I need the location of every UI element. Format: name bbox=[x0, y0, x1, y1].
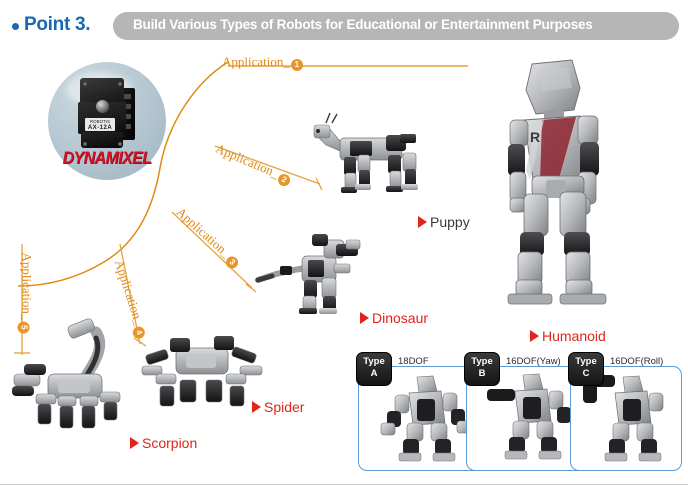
label-dinosaur-text: Dinosaur bbox=[372, 310, 428, 326]
label-spider-text: Spider bbox=[264, 399, 304, 415]
type-b-badge-letter: B bbox=[479, 368, 486, 379]
type-c-badge-top: Type bbox=[575, 356, 596, 367]
application-label-3: Application_3 bbox=[172, 204, 243, 271]
servo-bottom-case bbox=[81, 132, 123, 148]
dynamixel-logo-disc: ROBOTIS AX-12A DYNAMIXEL bbox=[48, 62, 166, 180]
red-triangle-icon bbox=[360, 312, 369, 324]
application-label-2: Application_2 bbox=[213, 141, 294, 188]
servo-screw bbox=[83, 142, 87, 146]
servo-part-label: ROBOTIS AX-12A bbox=[85, 118, 115, 131]
type-b-badge: Type B bbox=[464, 352, 500, 386]
blue-dot-icon bbox=[12, 23, 19, 30]
label-puppy-text: Puppy bbox=[430, 214, 470, 230]
red-triangle-icon bbox=[252, 401, 261, 413]
label-dinosaur: Dinosaur bbox=[360, 310, 428, 326]
type-a-dof-label: 18DOF bbox=[398, 356, 429, 367]
red-triangle-icon bbox=[418, 216, 427, 228]
page-title: Point 3. bbox=[24, 14, 90, 36]
label-scorpion: Scorpion bbox=[130, 435, 197, 451]
label-puppy: Puppy bbox=[418, 214, 470, 230]
spider-robot-image bbox=[140, 330, 265, 415]
svg-text:R: R bbox=[530, 129, 540, 145]
servo-label-brand: ROBOTIS bbox=[90, 119, 110, 124]
type-c-dof-label: 16DOF(Roll) bbox=[610, 356, 663, 367]
type-a-badge-letter: A bbox=[371, 368, 378, 379]
type-a-badge-top: Type bbox=[363, 356, 384, 367]
servo-screw bbox=[118, 142, 122, 146]
servo-motor-image: ROBOTIS AX-12A bbox=[76, 78, 136, 150]
application-number-badge: 1 bbox=[291, 59, 303, 71]
header-subtitle: Build Various Types of Robots for Educat… bbox=[133, 17, 593, 32]
type-b-dof-label: 16DOF(Yaw) bbox=[506, 356, 561, 367]
application-label-text: Application_ bbox=[222, 54, 290, 69]
label-humanoid: Humanoid bbox=[530, 328, 606, 344]
servo-screw bbox=[118, 82, 122, 86]
scorpion-robot-image bbox=[10, 312, 155, 437]
header-pill: Build Various Types of Robots for Educat… bbox=[113, 12, 679, 40]
slide-header: Point 3. Build Various Types of Robots f… bbox=[0, 8, 688, 44]
application-label-text: Application_ bbox=[20, 253, 35, 321]
application-label-1: Application_1 bbox=[222, 54, 303, 71]
dinosaur-robot-image bbox=[250, 228, 380, 318]
servo-screw bbox=[83, 82, 87, 86]
dynamixel-wordmark: DYNAMIXEL bbox=[48, 149, 166, 169]
application-label-text: Application_ bbox=[174, 204, 234, 261]
red-triangle-icon bbox=[130, 437, 139, 449]
label-humanoid-text: Humanoid bbox=[542, 328, 606, 344]
label-scorpion-text: Scorpion bbox=[142, 435, 197, 451]
puppy-robot-image bbox=[300, 105, 440, 210]
slide-canvas: Point 3. Build Various Types of Robots f… bbox=[0, 0, 688, 485]
servo-horn bbox=[96, 100, 109, 113]
type-c-badge: Type C bbox=[568, 352, 604, 386]
label-spider: Spider bbox=[252, 399, 304, 415]
type-a-badge: Type A bbox=[356, 352, 392, 386]
servo-label-model: AX-12A bbox=[85, 125, 115, 131]
application-label-text: Application_ bbox=[213, 141, 281, 181]
type-b-badge-top: Type bbox=[471, 356, 492, 367]
humanoid-robot-image: R bbox=[480, 58, 650, 328]
type-c-badge-letter: C bbox=[583, 368, 590, 379]
red-triangle-icon bbox=[530, 330, 539, 342]
